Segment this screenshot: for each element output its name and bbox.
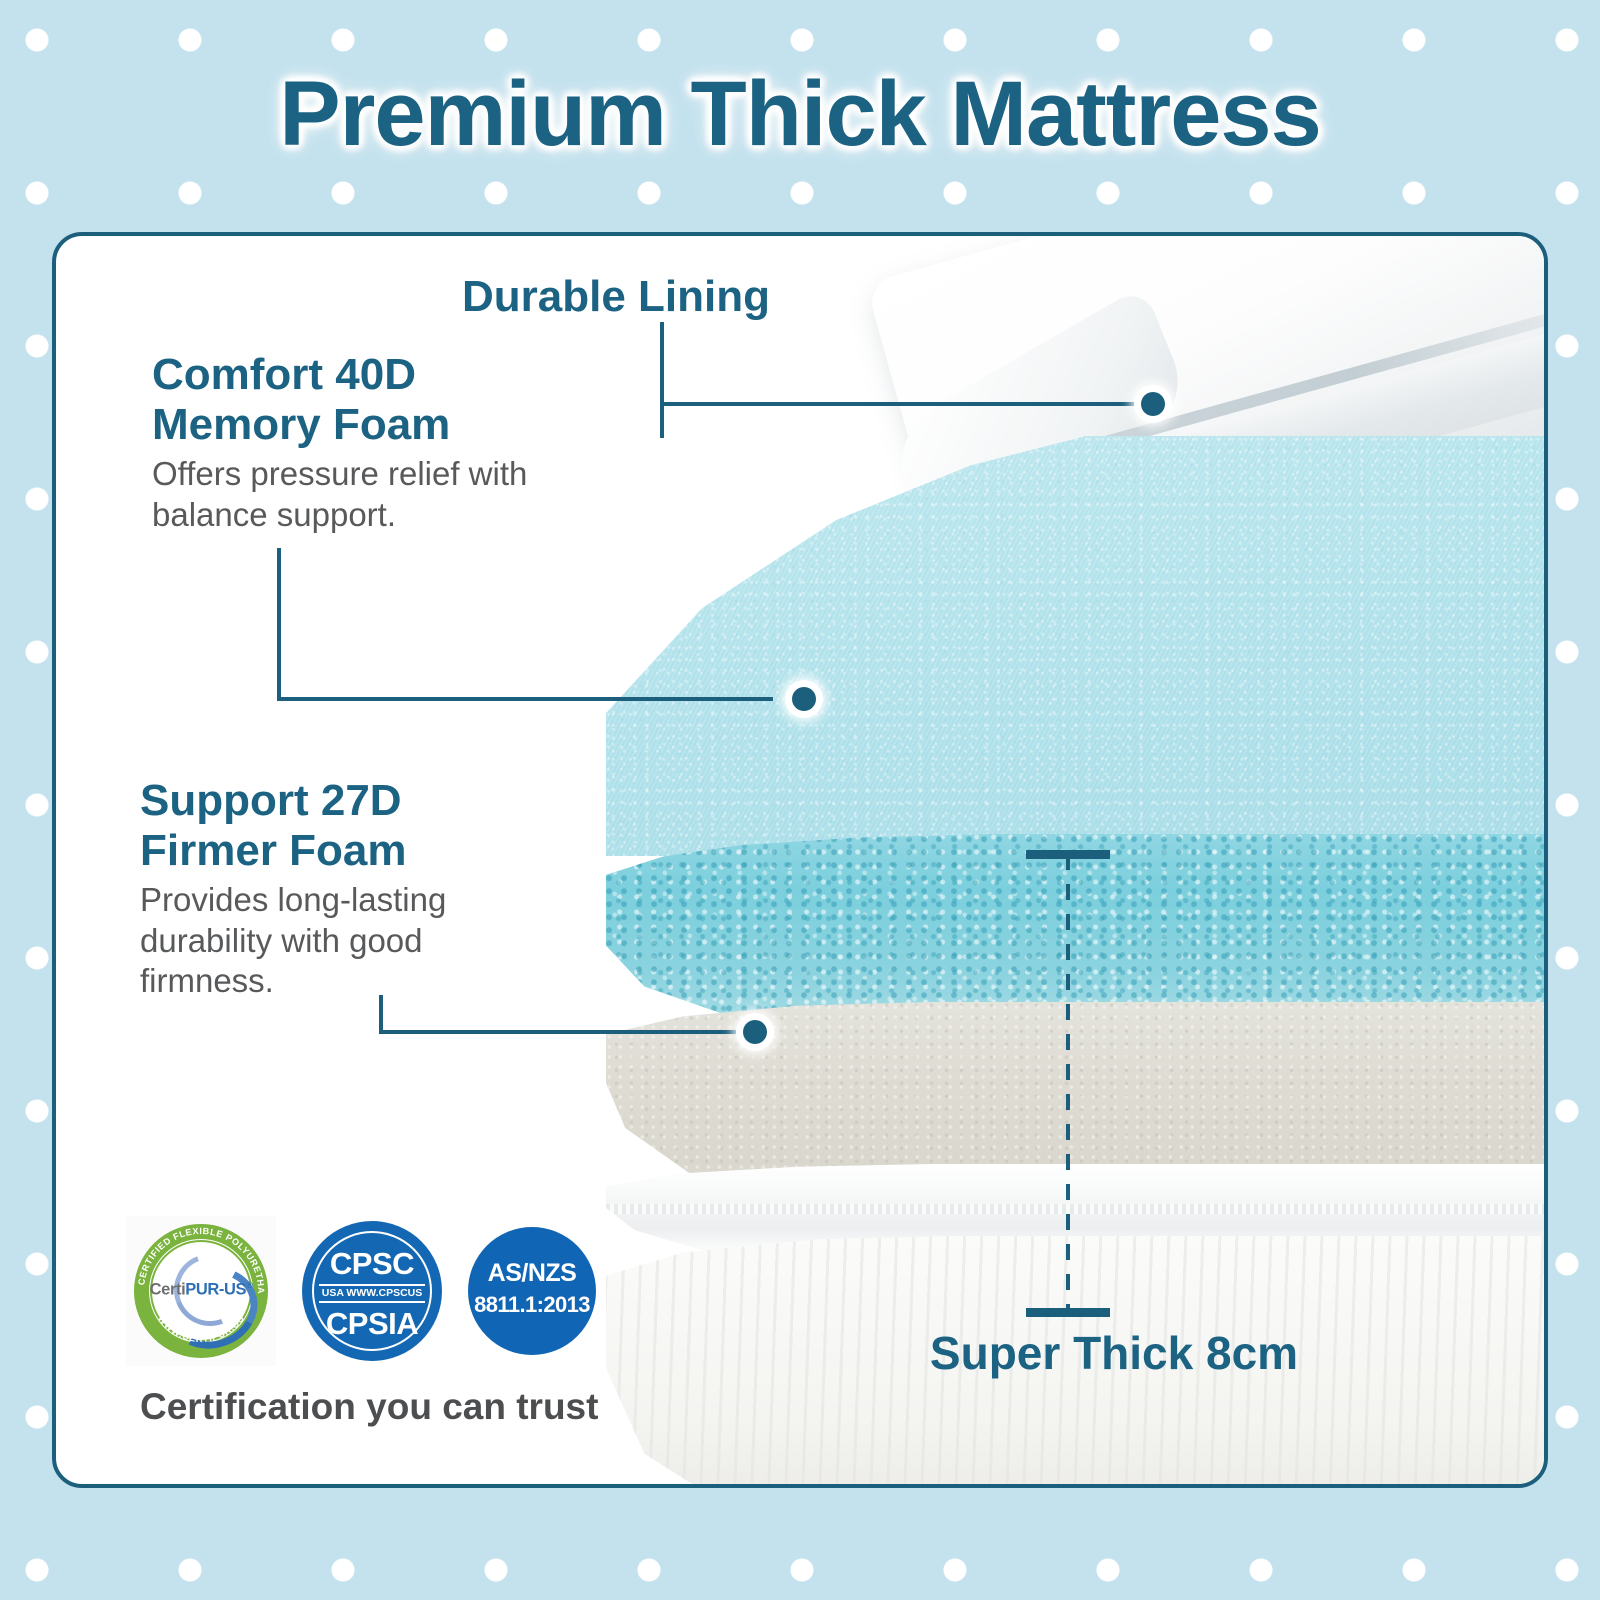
callout-dot-firmer-foam[interactable] bbox=[736, 1013, 774, 1051]
leader-line-support-horizontal bbox=[379, 1030, 754, 1034]
dot-core bbox=[792, 687, 816, 711]
dimension-dashed-line bbox=[1066, 854, 1070, 1312]
infographic-poster: Premium Thick Mattress bbox=[0, 0, 1600, 1600]
callout-dot-durable-lining[interactable] bbox=[1134, 385, 1172, 423]
callout-heading-comfort: Comfort 40D Memory Foam bbox=[152, 350, 592, 450]
certification-caption: Certification you can trust bbox=[140, 1386, 598, 1428]
cpsc-label: CPSC bbox=[302, 1248, 442, 1279]
as-nzs-standard-number: 8811.1:2013 bbox=[468, 1294, 596, 1316]
cpsc-cpsia-badge: CPSC USA WWW.CPSCUS CPSIA bbox=[302, 1221, 442, 1361]
memory-foam-layer bbox=[606, 436, 1548, 856]
certification-badges: CONTAINS CERTIFIED FLEXIBLE POLYURETHANE… bbox=[126, 1216, 596, 1366]
as-nzs-label: AS/NZS bbox=[468, 1261, 596, 1286]
leader-line-durable-vertical bbox=[660, 322, 664, 438]
firmer-foam-layer bbox=[606, 834, 1548, 1020]
callout-dot-memory-foam[interactable] bbox=[785, 680, 823, 718]
certipur-arc-text: CONTAINS CERTIFIED FLEXIBLE POLYURETHANE… bbox=[126, 1216, 276, 1366]
callout-comfort-memory-foam: Comfort 40D Memory Foam Offers pressure … bbox=[152, 350, 592, 535]
certipur-us-badge: CONTAINS CERTIFIED FLEXIBLE POLYURETHANE… bbox=[126, 1216, 276, 1366]
mattress-product-image bbox=[596, 236, 1548, 1488]
content-card: Super Thick 8cm Durable Lining Comfort 4… bbox=[52, 232, 1548, 1488]
callout-heading-support: Support 27D Firmer Foam bbox=[140, 776, 540, 876]
dot-core bbox=[1141, 392, 1165, 416]
page-title: Premium Thick Mattress bbox=[0, 62, 1600, 167]
dot-core bbox=[743, 1020, 767, 1044]
leader-line-durable-horizontal bbox=[660, 402, 1152, 406]
cpsc-url-label: USA WWW.CPSCUS bbox=[319, 1284, 425, 1303]
callout-support-firmer-foam: Support 27D Firmer Foam Provides long-la… bbox=[140, 776, 540, 1001]
callout-body-comfort: Offers pressure relief with balance supp… bbox=[152, 454, 592, 535]
leader-line-comfort-horizontal bbox=[277, 697, 773, 701]
certipur-arc-top-text: CONTAINS CERTIFIED FLEXIBLE POLYURETHANE… bbox=[126, 1216, 266, 1294]
foam-layer-stack bbox=[606, 436, 1548, 1316]
dimension-cap-bottom bbox=[1026, 1308, 1110, 1317]
dimension-label: Super Thick 8cm bbox=[904, 1326, 1324, 1380]
callout-heading-durable-lining: Durable Lining bbox=[462, 272, 770, 322]
callout-durable-lining: Durable Lining bbox=[462, 272, 770, 322]
certipur-arc-bottom-text: WWW.CERTIPUR.US bbox=[155, 1313, 247, 1345]
cpsia-label: CPSIA bbox=[302, 1308, 442, 1339]
as-nzs-badge: AS/NZS 8811.1:2013 bbox=[468, 1227, 596, 1355]
leader-line-comfort-vertical bbox=[277, 548, 281, 701]
callout-body-support: Provides long-lasting durability with go… bbox=[140, 880, 540, 1001]
